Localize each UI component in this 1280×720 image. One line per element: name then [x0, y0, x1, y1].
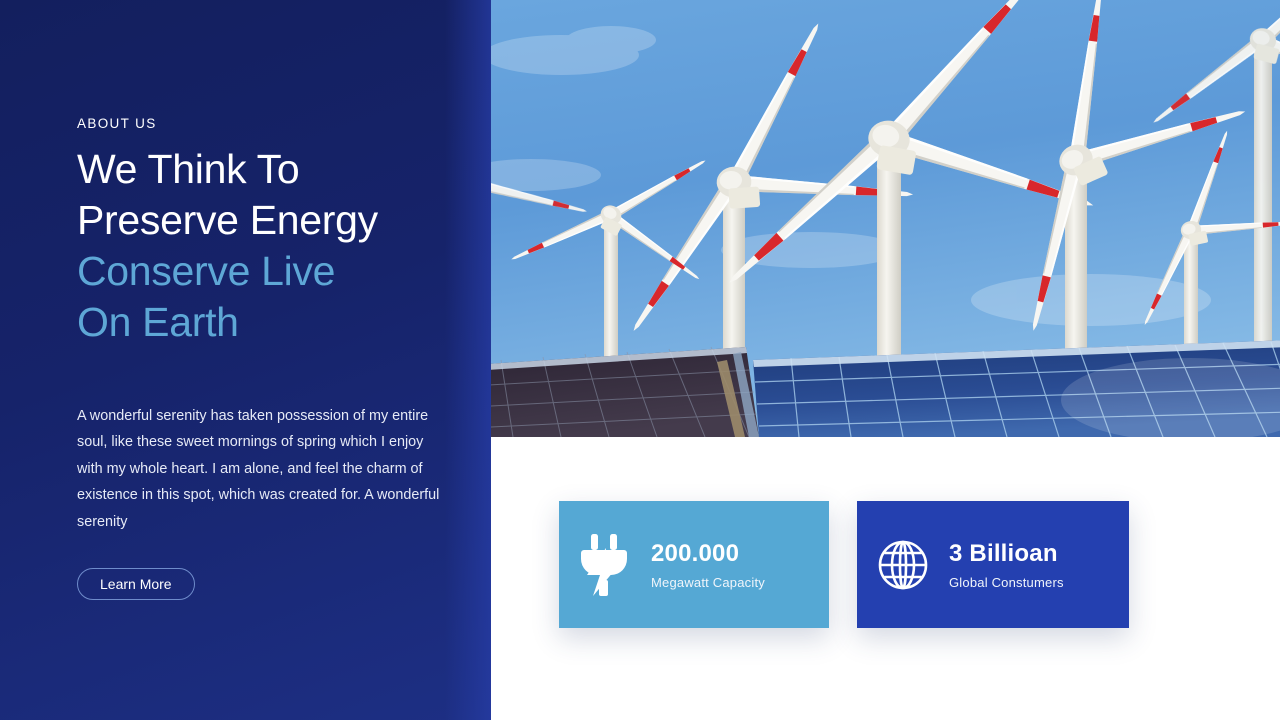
stat-card-global-consumers[interactable]: 3 Billioan Global Constumers — [857, 501, 1129, 628]
about-content: ABOUT US We Think To Preserve Energy Con… — [77, 0, 457, 720]
stat-value: 3 Billioan — [949, 539, 1064, 569]
about-left-panel: ABOUT US We Think To Preserve Energy Con… — [0, 0, 491, 720]
stat-label: Megawatt Capacity — [651, 575, 765, 590]
stats-section: 200.000 Megawatt Capacity 3 — [491, 437, 1280, 720]
stat-value: 200.000 — [651, 539, 765, 569]
plug-bolt-icon — [559, 534, 651, 596]
learn-more-button[interactable]: Learn More — [77, 568, 195, 600]
headline-line-2: Preserve Energy — [77, 197, 378, 243]
about-us-hero-page: ABOUT US We Think To Preserve Energy Con… — [0, 0, 1280, 720]
headline-line-4: On Earth — [77, 299, 239, 345]
headline-line-1: We Think To — [77, 146, 299, 192]
headline-line-3: Conserve Live — [77, 248, 335, 294]
section-eyebrow: ABOUT US — [77, 116, 157, 131]
stat-text: 200.000 Megawatt Capacity — [651, 539, 765, 590]
globe-icon — [857, 539, 949, 591]
renewable-energy-photo — [491, 0, 1280, 437]
stat-text: 3 Billioan Global Constumers — [949, 539, 1064, 590]
stat-label: Global Constumers — [949, 575, 1064, 590]
about-paragraph: A wonderful serenity has taken possessio… — [77, 403, 442, 535]
page-title: We Think To Preserve Energy Conserve Liv… — [77, 144, 477, 348]
stat-card-megawatt-capacity[interactable]: 200.000 Megawatt Capacity — [559, 501, 829, 628]
